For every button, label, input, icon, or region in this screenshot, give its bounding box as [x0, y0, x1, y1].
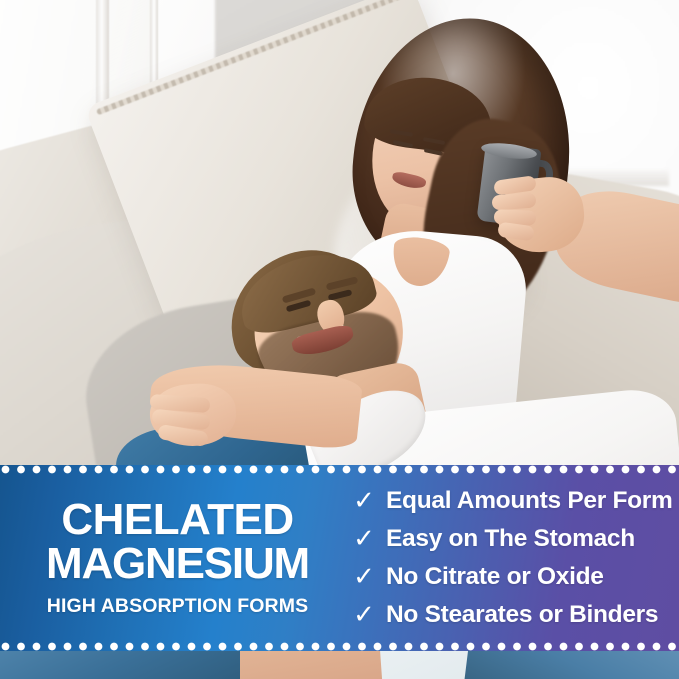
product-title-line-2: MAGNESIUM	[10, 542, 345, 585]
benefit-item: ✓ No Stearates or Binders	[353, 601, 673, 629]
benefit-label: No Stearates or Binders	[386, 601, 658, 629]
benefit-item: ✓ No Citrate or Oxide	[353, 563, 673, 591]
check-icon: ✓	[353, 487, 375, 513]
check-icon: ✓	[353, 601, 375, 627]
finger	[492, 192, 537, 210]
product-title-block: CHELATED MAGNESIUM HIGH ABSORPTION FORMS	[0, 498, 345, 617]
benefits-banner: CHELATED MAGNESIUM HIGH ABSORPTION FORMS…	[0, 465, 679, 651]
benefit-item: ✓ Equal Amounts Per Form	[353, 487, 673, 515]
product-title-line-1: CHELATED	[10, 498, 345, 541]
check-icon: ✓	[353, 563, 375, 589]
product-subtitle: HIGH ABSORPTION FORMS	[10, 595, 345, 618]
product-lifestyle-ad: CHELATED MAGNESIUM HIGH ABSORPTION FORMS…	[0, 0, 679, 679]
benefit-label: Equal Amounts Per Form	[386, 487, 673, 515]
benefit-label: Easy on The Stomach	[386, 525, 635, 553]
dotted-border-top	[0, 464, 679, 475]
benefit-item: ✓ Easy on The Stomach	[353, 525, 673, 553]
check-icon: ✓	[353, 525, 375, 551]
benefits-list: ✓ Equal Amounts Per Form ✓ Easy on The S…	[345, 487, 679, 629]
dotted-border-bottom	[0, 641, 679, 652]
benefit-label: No Citrate or Oxide	[386, 563, 604, 591]
